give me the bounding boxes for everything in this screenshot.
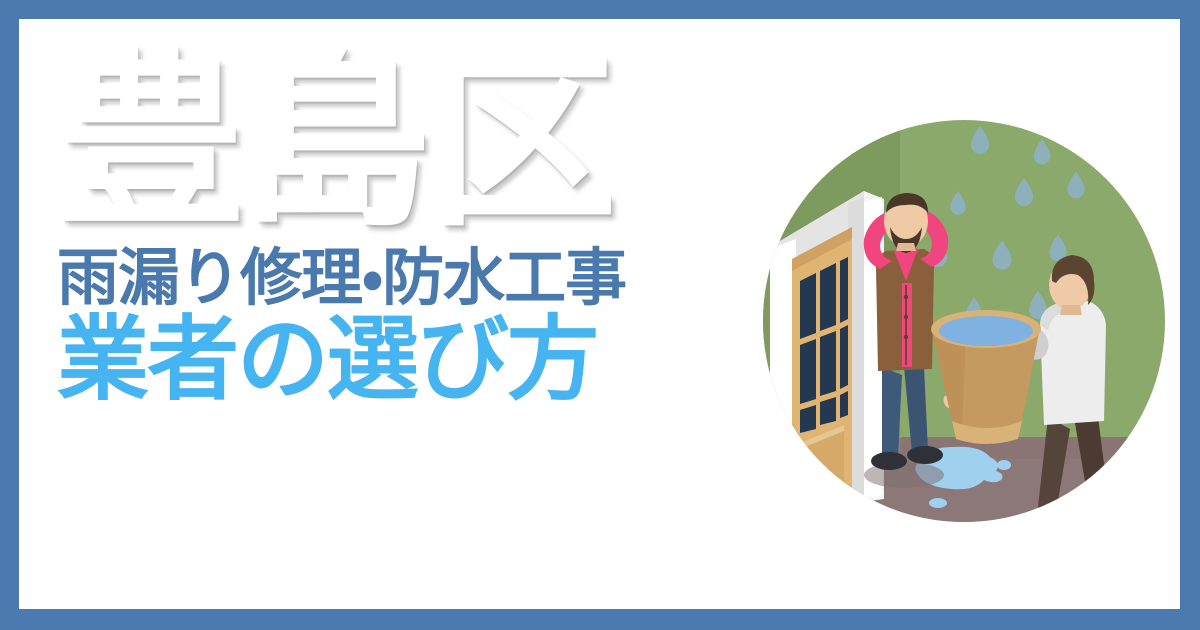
- banner-frame: 豊島区 雨漏り修理・防水工事 業者の選び方: [0, 0, 1200, 630]
- page-title-region: 豊島区: [57, 47, 737, 239]
- shoe-front: [1081, 494, 1119, 512]
- scene-circle: [752, 99, 1172, 569]
- shoe-right: [907, 446, 943, 464]
- headline-block: 豊島区 雨漏り修理・防水工事 業者の選び方: [57, 47, 737, 408]
- subtitle-topic: 業者の選び方: [57, 312, 737, 408]
- bucket-water: [939, 316, 1033, 346]
- neck: [896, 243, 916, 251]
- illustration-roof-leak: [752, 99, 1172, 569]
- subtitle-service: 雨漏り修理・防水工事: [57, 245, 737, 310]
- shadow-right-person: [1024, 515, 1112, 543]
- banner-canvas: 豊島区 雨漏り修理・防水工事 業者の選び方: [19, 19, 1180, 609]
- shoe-back: [1027, 508, 1065, 526]
- shoe-left: [871, 452, 907, 470]
- neck: [1060, 305, 1082, 315]
